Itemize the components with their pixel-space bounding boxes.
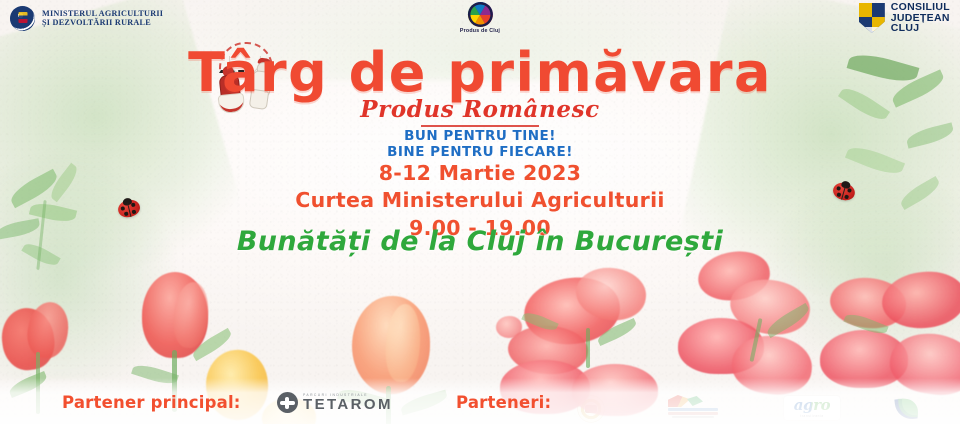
cluj-county-council-logo: CONSILIUL JUDEȚEAN CLUJ	[859, 2, 950, 34]
cluj-county-shield-icon	[859, 3, 885, 33]
main-partner-label: Partener principal:	[62, 393, 241, 412]
divider	[421, 125, 539, 127]
ministry-name-line1: MINISTERUL AGRICULTURII	[42, 9, 163, 18]
slogan-line1: BUN PENTRU TINE!	[0, 128, 960, 144]
produs-de-cluj-caption: Produs de Cluj	[460, 28, 500, 34]
romania-coat-of-arms-seal-icon	[10, 6, 35, 31]
ministry-logo: MINISTERUL AGRICULTURII ȘI DEZVOLTĂRII R…	[10, 6, 163, 31]
slogan-block: BUN PENTRU TINE! BINE PENTRU FIECARE!	[0, 128, 960, 161]
county-name-line3: CLUJ	[891, 23, 950, 34]
event-location: Curtea Ministerului Agriculturii	[0, 187, 960, 214]
tetarom-wordmark: TETAROM	[303, 397, 393, 412]
produs-de-cluj-logo: Produs de Cluj	[460, 2, 500, 34]
poster-header: MINISTERUL AGRICULTURII ȘI DEZVOLTĂRII R…	[0, 0, 960, 36]
script-subtitle: Produs Românesc	[0, 96, 960, 123]
tetarom-mark-icon	[277, 392, 298, 413]
event-date: 8-12 Martie 2023	[0, 160, 960, 187]
produs-de-cluj-rosette-icon	[468, 2, 493, 27]
partners-label: Parteneri:	[456, 393, 551, 412]
poster-footer: Partener principal: PARCURI INDUSTRIALE …	[0, 382, 960, 424]
event-poster: MINISTERUL AGRICULTURII ȘI DEZVOLTĂRII R…	[0, 0, 960, 424]
ministry-name-line2: ȘI DEZVOLTĂRII RURALE	[42, 18, 163, 27]
tetarom-logo-icon: PARCURI INDUSTRIALE TETAROM	[277, 392, 393, 413]
page-title: Târg de primăvara	[0, 46, 960, 100]
event-tagline: Bunătăți de la Cluj în București	[0, 226, 960, 257]
slogan-line2: BINE PENTRU FIECARE!	[0, 144, 960, 160]
